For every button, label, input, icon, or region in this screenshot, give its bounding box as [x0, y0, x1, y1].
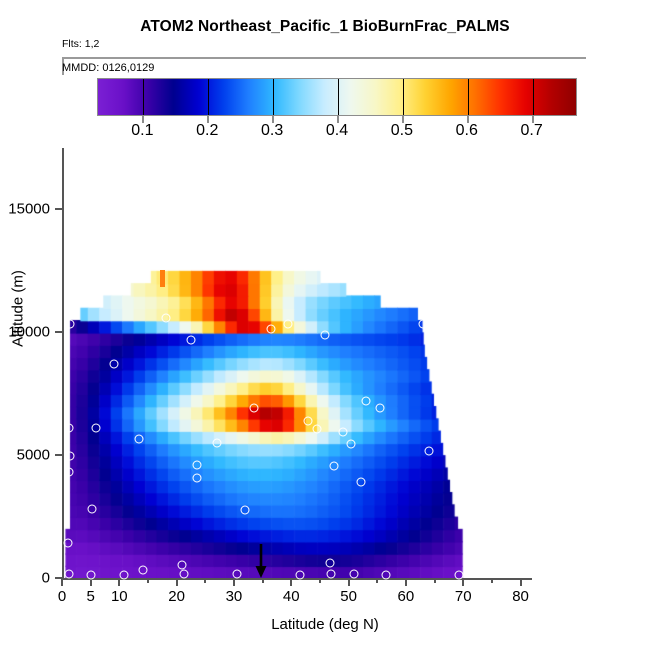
sample-marker: [320, 330, 329, 339]
orange-marker-icon: [160, 270, 165, 287]
mmdd-label: MMDD: 0126,0129: [62, 62, 154, 74]
sample-marker: [86, 571, 95, 580]
sample-marker: [186, 335, 195, 344]
colorbar-tick-label: 0.1: [131, 122, 153, 140]
colorbar-divider: [208, 79, 209, 115]
sample-marker: [193, 474, 202, 483]
x-axis-tick-label: 80: [512, 588, 529, 605]
colorbar-divider: [468, 79, 469, 115]
y-axis-tick-label: 0: [42, 570, 50, 587]
sample-marker: [250, 404, 259, 413]
sample-marker: [454, 571, 463, 580]
sample-marker: [162, 313, 171, 322]
down-arrow-icon: [254, 544, 268, 578]
sample-marker: [284, 319, 293, 328]
colorbar-tick-labels: 0.10.20.30.40.50.60.7: [97, 122, 577, 144]
sample-marker: [64, 570, 73, 579]
sample-marker: [212, 438, 221, 447]
x-axis-minor-tick: [204, 578, 206, 583]
sample-marker: [267, 324, 276, 333]
sample-marker: [92, 424, 101, 433]
y-axis-tick: [55, 454, 62, 456]
colorbar-divider: [143, 79, 144, 115]
flights-label: Flts: 1,2: [62, 38, 99, 50]
x-axis-minor-tick: [262, 578, 264, 583]
sample-marker: [135, 435, 144, 444]
colorbar-divider: [338, 79, 339, 115]
x-axis-minor-tick: [147, 578, 149, 583]
sample-marker: [424, 447, 433, 456]
sample-marker: [109, 360, 118, 369]
sample-marker: [330, 462, 339, 471]
sample-marker: [381, 570, 390, 579]
x-axis-minor-tick: [376, 578, 378, 583]
sample-marker: [232, 570, 241, 579]
x-axis-tick: [290, 578, 292, 586]
colorbar-divider: [403, 79, 404, 115]
x-axis-tick: [118, 578, 120, 586]
x-axis-minor-tick: [491, 578, 493, 583]
colorbar-divider: [533, 79, 534, 115]
x-axis-tick-label: 50: [340, 588, 357, 605]
x-axis-minor-tick: [434, 578, 436, 583]
sample-marker: [66, 452, 75, 461]
x-axis-tick: [348, 578, 350, 586]
sample-marker: [66, 319, 75, 328]
sample-marker: [376, 404, 385, 413]
colorbar-tick-label: 0.5: [391, 122, 413, 140]
y-axis-tick: [55, 331, 62, 333]
sample-marker: [357, 478, 366, 487]
sample-marker: [64, 539, 73, 548]
colorbar-tick-label: 0.7: [520, 122, 542, 140]
sample-marker: [87, 505, 96, 514]
x-axis-tick: [405, 578, 407, 586]
colorbar-tick-label: 0.6: [456, 122, 478, 140]
y-axis-tick-label: 5000: [17, 447, 50, 464]
heatmap-canvas: [62, 148, 532, 578]
x-axis-tick-label: 70: [455, 588, 472, 605]
x-axis-tick-label: 5: [86, 588, 94, 605]
page-title: ATOM2 Northeast_Pacific_1 BioBurnFrac_PA…: [0, 18, 650, 36]
sample-marker: [419, 319, 428, 328]
x-axis-minor-tick: [319, 578, 321, 583]
colorbar: [97, 78, 577, 116]
x-axis-tick: [520, 578, 522, 586]
colorbar-tick-label: 0.3: [261, 122, 283, 140]
x-axis-tick-label: 60: [398, 588, 415, 605]
sample-marker: [64, 424, 73, 433]
header-divider: [62, 57, 586, 59]
x-axis-tick-label: 10: [111, 588, 128, 605]
curtain-plot-figure: ATOM2 Northeast_Pacific_1 BioBurnFrac_PA…: [0, 0, 650, 650]
sample-marker: [119, 571, 128, 580]
x-axis-tick: [61, 578, 63, 586]
y-axis-tick: [55, 208, 62, 210]
sample-marker: [241, 506, 250, 515]
sample-marker: [313, 425, 322, 434]
sample-marker: [327, 570, 336, 579]
x-axis-tick: [233, 578, 235, 586]
sample-marker: [350, 569, 359, 578]
sample-marker: [179, 569, 188, 578]
x-axis-tick: [176, 578, 178, 586]
x-axis-tick: [462, 578, 464, 586]
sample-marker: [139, 565, 148, 574]
x-axis-tick-label: 0: [58, 588, 66, 605]
colorbar-divider: [273, 79, 274, 115]
sample-marker: [361, 397, 370, 406]
y-axis-title: Altitude (m): [10, 199, 27, 419]
x-axis-title: Latitude (deg N): [0, 616, 650, 633]
sample-marker: [304, 416, 313, 425]
x-axis-tick-label: 30: [226, 588, 243, 605]
x-axis-tick-label: 40: [283, 588, 300, 605]
sample-marker: [326, 559, 335, 568]
sample-marker: [347, 440, 356, 449]
sample-marker: [295, 571, 304, 580]
sample-marker: [192, 460, 201, 469]
colorbar-tick-label: 0.2: [196, 122, 218, 140]
sample-marker: [338, 427, 347, 436]
colorbar-tick-label: 0.4: [326, 122, 348, 140]
colorbar-dividers: [98, 79, 576, 115]
x-axis-tick-label: 20: [168, 588, 185, 605]
sample-marker: [65, 468, 74, 477]
